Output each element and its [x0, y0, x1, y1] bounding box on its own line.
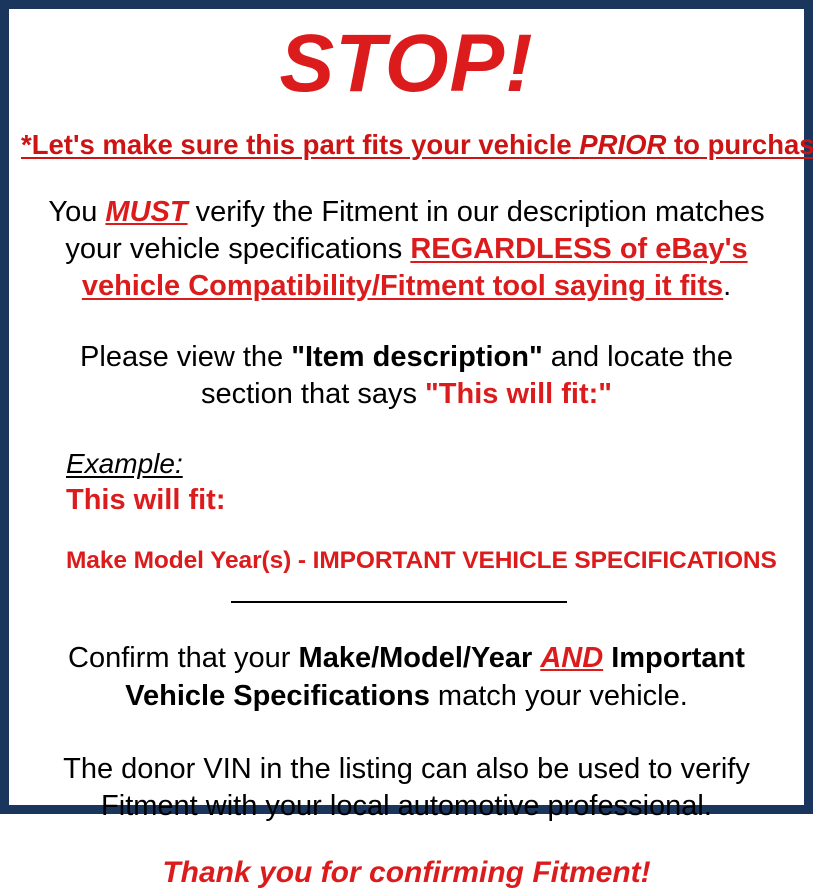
view-seg1: Please view the — [80, 341, 291, 373]
emphasis-this-will-fit: "This will fit:" — [425, 378, 612, 410]
example-fit-header: This will fit: — [66, 484, 792, 517]
paragraph-item-description: Please view the "Item description" and l… — [21, 339, 792, 413]
must-seg3: . — [723, 270, 731, 302]
confirm-seg3 — [603, 642, 611, 674]
example-spec-line: Make Model Year(s) - IMPORTANT VEHICLE S… — [66, 547, 792, 575]
subtitle-prefix: *Let's make sure this part fits your veh… — [21, 129, 579, 160]
paragraph-confirm: Confirm that your Make/Model/Year AND Im… — [21, 640, 792, 714]
divider-wrap — [21, 601, 792, 604]
thank-you-message: Thank you for confirming Fitment! — [21, 855, 792, 891]
subtitle-warning: *Let's make sure this part fits your veh… — [21, 129, 792, 161]
subtitle-emphasis-prior: PRIOR — [579, 129, 666, 160]
confirm-seg4: match your vehicle. — [430, 680, 688, 712]
emphasis-and: AND — [540, 642, 603, 674]
emphasis-make-model-year: Make/Model/Year — [299, 642, 533, 674]
fitment-notice-frame: STOP! *Let's make sure this part fits yo… — [0, 0, 813, 814]
example-block: Example: This will fit: Make Model Year(… — [21, 449, 792, 575]
confirm-seg1: Confirm that your — [68, 642, 298, 674]
notice-content: STOP! *Let's make sure this part fits yo… — [9, 23, 804, 819]
horizontal-divider — [231, 601, 567, 603]
must-seg1: You — [48, 196, 105, 228]
paragraph-must-verify: You MUST verify the Fitment in our descr… — [21, 194, 792, 305]
emphasis-item-description: "Item description" — [291, 341, 542, 373]
example-label: Example: — [66, 449, 183, 480]
emphasis-must: MUST — [105, 196, 187, 228]
subtitle-suffix: to purchasing* — [666, 129, 813, 160]
example-label-row: Example: — [66, 449, 792, 480]
page-title: STOP! — [21, 23, 792, 105]
